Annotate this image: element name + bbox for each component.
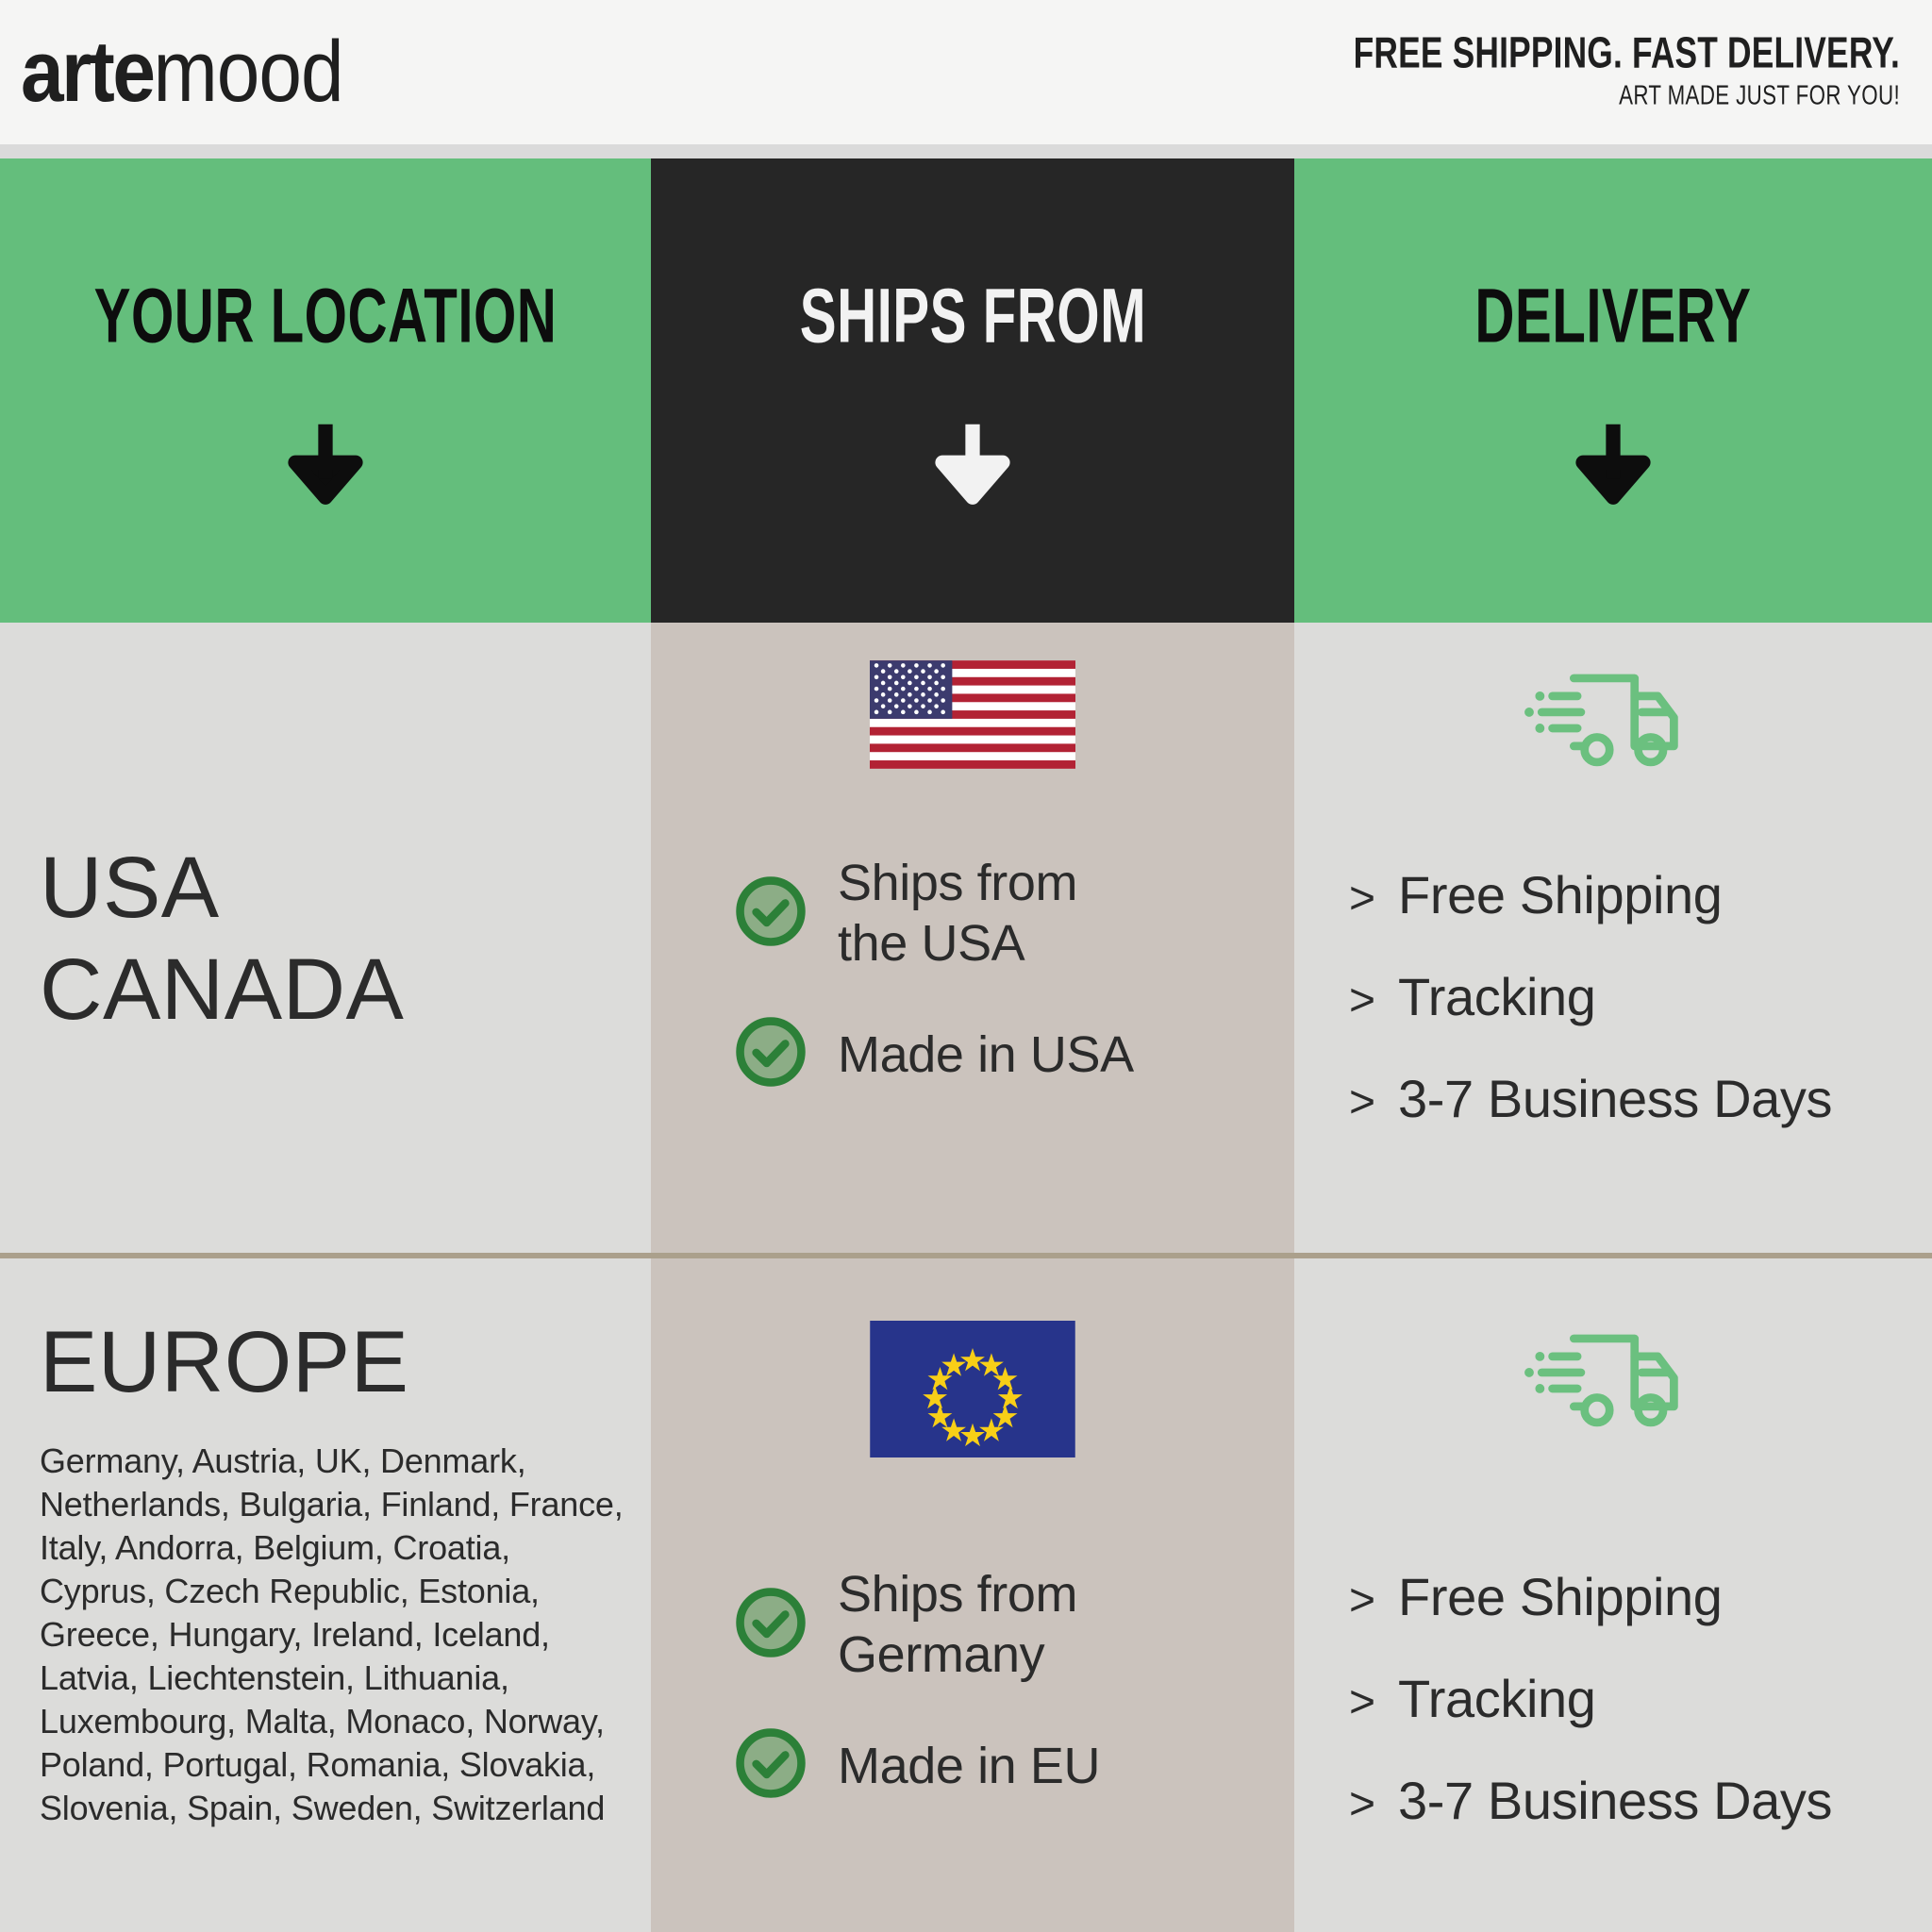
column-header-your-location: YOUR LOCATION bbox=[0, 158, 651, 623]
delivery-truck-icon bbox=[1524, 660, 1703, 783]
list-item: Made in EU bbox=[732, 1724, 1294, 1807]
chevron-right-icon: > bbox=[1349, 1676, 1375, 1729]
row-usa-location-cell: USA CANADA bbox=[0, 623, 651, 1255]
artemood-logo[interactable]: artemood bbox=[21, 29, 343, 116]
list-item: > Tracking bbox=[1349, 966, 1932, 1028]
logo-bold-part: arte bbox=[21, 24, 153, 120]
check-circle-icon bbox=[732, 1013, 809, 1095]
tagline-block: FREE SHIPPING. FAST DELIVERY. ART MADE J… bbox=[1312, 33, 1909, 112]
logo-light-part: mood bbox=[153, 24, 342, 120]
list-item-label: Tracking bbox=[1398, 966, 1595, 1028]
delivery-truck-icon bbox=[1524, 1321, 1703, 1443]
brand-header: artemood FREE SHIPPING. FAST DELIVERY. A… bbox=[0, 0, 1932, 144]
list-item-label: Free Shipping bbox=[1398, 1566, 1722, 1628]
row-divider bbox=[0, 1253, 1932, 1258]
location-name-title: EUROPE bbox=[40, 1317, 634, 1407]
list-item: > 3-7 Business Days bbox=[1349, 1770, 1932, 1832]
delivery-feature-list: > Free Shipping > Tracking > 3-7 Busines… bbox=[1294, 864, 1932, 1130]
row-europe-location-cell: EUROPE Germany, Austria, UK, Denmark, Ne… bbox=[0, 1258, 651, 1932]
tagline-secondary: ART MADE JUST FOR YOU! bbox=[1354, 76, 1900, 115]
list-item: Ships from Germany bbox=[732, 1564, 1294, 1685]
list-item-label: Tracking bbox=[1398, 1668, 1595, 1730]
chevron-right-icon: > bbox=[1349, 1574, 1375, 1627]
chevron-right-icon: > bbox=[1349, 1778, 1375, 1831]
list-item-label: Free Shipping bbox=[1398, 864, 1722, 926]
column-header-label: DELIVERY bbox=[1474, 278, 1751, 356]
usa-flag-icon bbox=[870, 660, 1075, 774]
column-header-delivery: DELIVERY bbox=[1294, 158, 1932, 623]
row-usa-delivery-cell: > Free Shipping > Tracking > 3-7 Busines… bbox=[1294, 623, 1932, 1255]
chevron-right-icon: > bbox=[1349, 974, 1375, 1027]
list-item-label: Made in EU bbox=[838, 1736, 1100, 1796]
header-separator-band bbox=[0, 144, 1932, 158]
list-item: > Free Shipping bbox=[1349, 1566, 1932, 1628]
country-list: Germany, Austria, UK, Denmark, Netherlan… bbox=[40, 1440, 634, 1830]
arrow-down-icon bbox=[1562, 414, 1664, 521]
ships-from-check-list: Ships from the USA Made in USA bbox=[651, 853, 1294, 1095]
location-name-line2: CANADA bbox=[40, 939, 651, 1041]
list-item: Made in USA bbox=[732, 1013, 1294, 1095]
ships-from-check-list: Ships from Germany Made in EU bbox=[651, 1564, 1294, 1807]
list-item-label: Made in USA bbox=[838, 1024, 1134, 1085]
column-header-ships-from: SHIPS FROM bbox=[651, 158, 1294, 623]
list-item-label: Ships from the USA bbox=[838, 853, 1077, 974]
tagline-primary: FREE SHIPPING. FAST DELIVERY. bbox=[1354, 28, 1900, 79]
shipping-info-infographic: artemood FREE SHIPPING. FAST DELIVERY. A… bbox=[0, 0, 1932, 1932]
list-item-label: 3-7 Business Days bbox=[1398, 1068, 1832, 1130]
delivery-feature-list: > Free Shipping > Tracking > 3-7 Busines… bbox=[1294, 1566, 1932, 1832]
list-item: > Free Shipping bbox=[1349, 864, 1932, 926]
list-item: > 3-7 Business Days bbox=[1349, 1068, 1932, 1130]
column-header-label: SHIPS FROM bbox=[799, 278, 1145, 356]
chevron-right-icon: > bbox=[1349, 873, 1375, 925]
list-item-label: 3-7 Business Days bbox=[1398, 1770, 1832, 1832]
list-item: Ships from the USA bbox=[732, 853, 1294, 974]
list-item: > Tracking bbox=[1349, 1668, 1932, 1730]
check-circle-icon bbox=[732, 1584, 809, 1666]
arrow-down-icon bbox=[275, 414, 376, 521]
row-usa-ships-from-cell: Ships from the USA Made in USA bbox=[651, 623, 1294, 1255]
arrow-down-icon bbox=[922, 414, 1024, 521]
column-header-label: YOUR LOCATION bbox=[94, 278, 558, 356]
chevron-right-icon: > bbox=[1349, 1076, 1375, 1129]
list-item-label: Ships from Germany bbox=[838, 1564, 1077, 1685]
location-name-line1: USA bbox=[40, 837, 651, 939]
check-circle-icon bbox=[732, 873, 809, 955]
row-europe-delivery-cell: > Free Shipping > Tracking > 3-7 Busines… bbox=[1294, 1258, 1932, 1932]
eu-flag-icon bbox=[870, 1321, 1075, 1462]
row-europe-ships-from-cell: Ships from Germany Made in EU bbox=[651, 1258, 1294, 1932]
check-circle-icon bbox=[732, 1724, 809, 1807]
